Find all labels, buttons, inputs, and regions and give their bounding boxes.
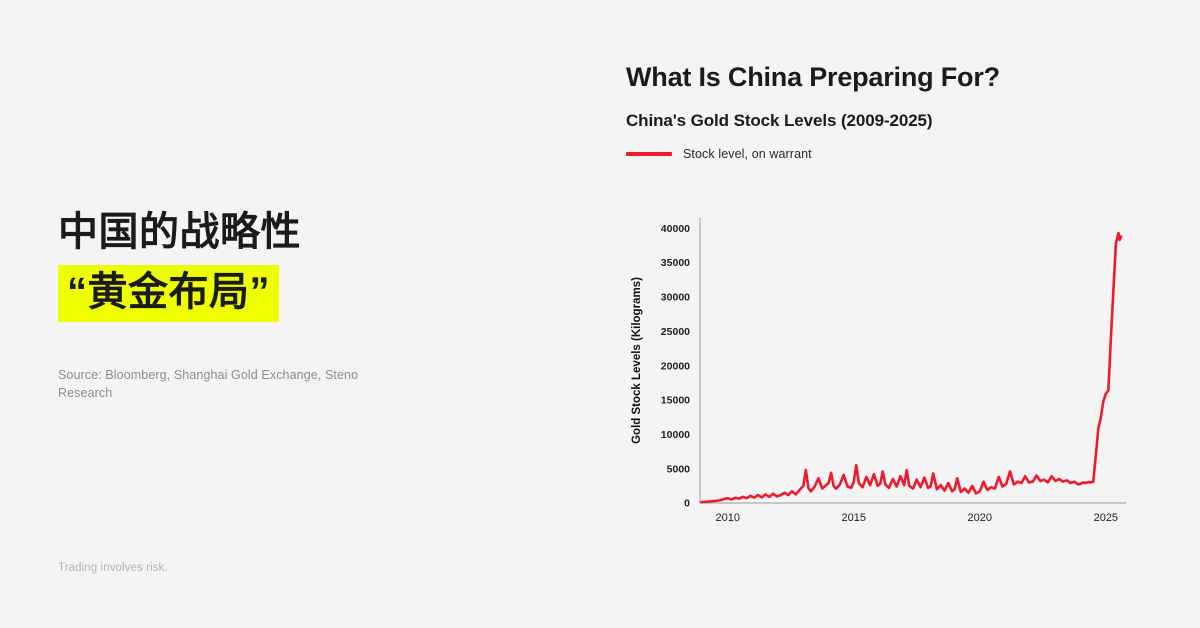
chart-legend: Stock level, on warrant — [626, 147, 1146, 161]
headline-block: 中国的战略性 “黄金布局” — [58, 208, 538, 322]
y-tick-35000: 35000 — [661, 257, 690, 269]
y-tick-40000: 40000 — [661, 223, 690, 235]
y-axis-title-group: Gold Stock Levels (Kilograms) — [631, 277, 643, 444]
x-axis-tick-labels: 2010201520202025 — [715, 512, 1118, 524]
x-tick-2025: 2025 — [1094, 512, 1118, 524]
infographic-canvas: 中国的战略性 “黄金布局” Source: Bloomberg, Shangha… — [0, 0, 1200, 628]
x-tick-2010: 2010 — [715, 512, 739, 524]
y-tick-15000: 15000 — [661, 395, 690, 407]
chart-header: What Is China Preparing For? China's Gol… — [626, 62, 1146, 161]
headline-line-1: 中国的战略性 — [58, 208, 538, 257]
headline-highlight-wrap: “黄金布局” — [58, 265, 279, 322]
legend-line-swatch — [626, 152, 672, 156]
y-tick-30000: 30000 — [661, 292, 690, 304]
chart-title: What Is China Preparing For? — [626, 62, 1146, 93]
x-tick-2020: 2020 — [968, 512, 992, 524]
series-line-stock-level — [701, 233, 1121, 502]
y-tick-5000: 5000 — [667, 463, 691, 475]
y-axis-title: Gold Stock Levels (Kilograms) — [631, 277, 643, 444]
y-tick-10000: 10000 — [661, 429, 690, 441]
y-tick-20000: 20000 — [661, 360, 690, 372]
chart-subtitle: China's Gold Stock Levels (2009-2025) — [626, 111, 1146, 131]
line-chart-svg: Gold Stock Levels (Kilograms) 0500010000… — [626, 196, 1126, 536]
x-tick-2015: 2015 — [842, 512, 866, 524]
source-credit: Source: Bloomberg, Shanghai Gold Exchang… — [58, 366, 388, 402]
headline-line-2-highlighted: “黄金布局” — [58, 265, 279, 322]
risk-disclaimer: Trading involves risk. — [58, 562, 168, 574]
y-tick-25000: 25000 — [661, 326, 690, 338]
legend-label: Stock level, on warrant — [683, 147, 812, 161]
chart-plot-area: Gold Stock Levels (Kilograms) 0500010000… — [626, 196, 1126, 536]
y-tick-0: 0 — [684, 498, 690, 510]
y-axis-tick-labels: 0500010000150002000025000300003500040000 — [661, 223, 690, 510]
